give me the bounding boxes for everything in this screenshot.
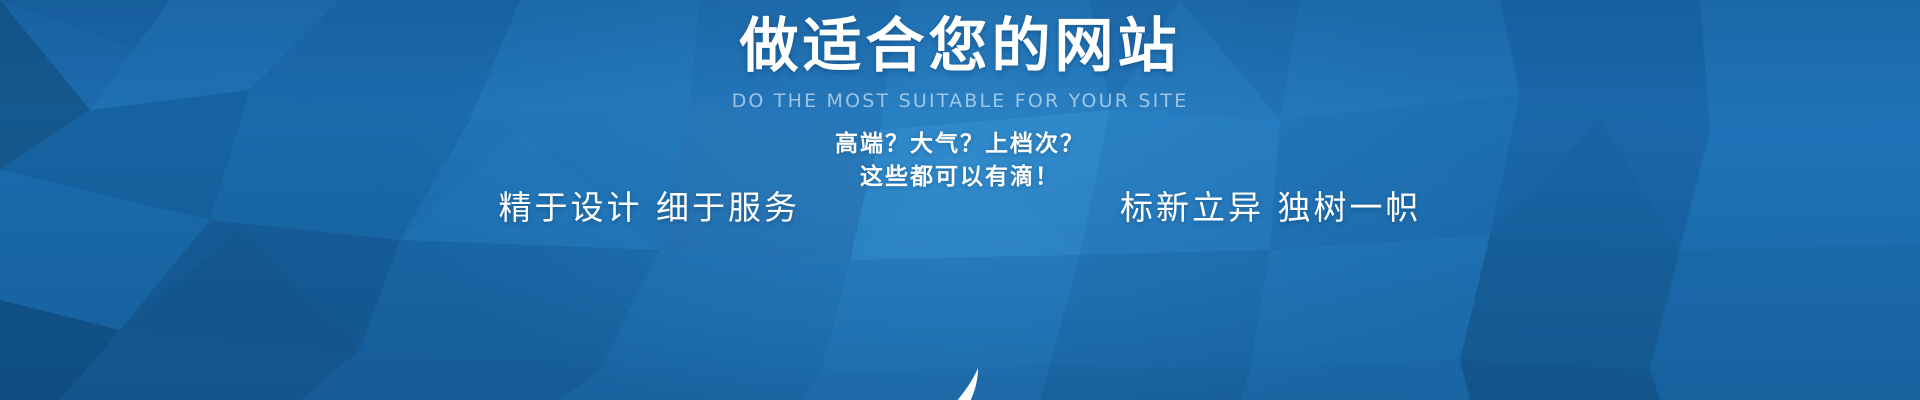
slogan-block: 高端？大气？上档次？ 这些都可以有滴！ (0, 128, 1920, 193)
leaf-swoosh-logo (900, 366, 1020, 400)
tagline-right: 标新立异 独树一帜 (1120, 188, 1422, 228)
hero-banner: 做适合您的网站 DO THE MOST SUITABLE FOR YOUR SI… (0, 0, 1920, 400)
banner-content: 做适合您的网站 DO THE MOST SUITABLE FOR YOUR SI… (0, 0, 1920, 400)
tagline-row: 精于设计 细于服务 标新立异 独树一帜 (0, 188, 1920, 328)
tagline-left: 精于设计 细于服务 (499, 188, 801, 228)
slogan-line-1: 高端？大气？上档次？ (0, 128, 1920, 161)
subtitle-english: DO THE MOST SUITABLE FOR YOUR SITE (0, 90, 1920, 113)
page-title: 做适合您的网站 (0, 14, 1920, 78)
